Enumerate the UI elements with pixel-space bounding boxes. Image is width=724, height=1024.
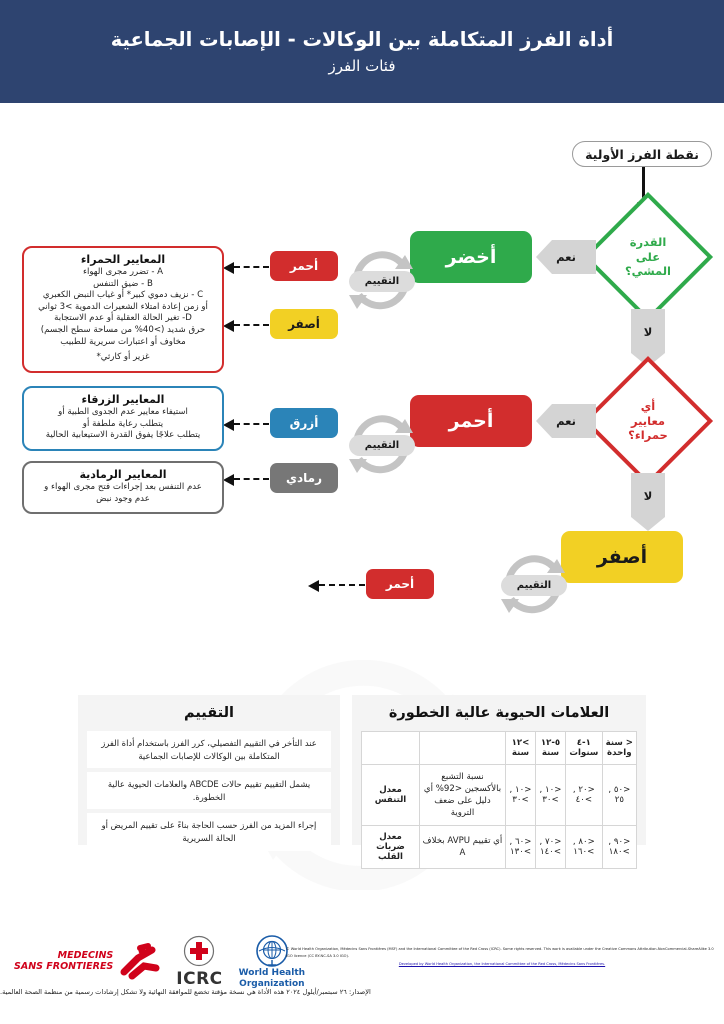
red-criteria-panel: المعايير الحمراء A - تضرر مجرى الهواء B … [22, 246, 224, 373]
blue-criteria-line: استيفاء معايير عدم الجدوى الطبية أو [34, 407, 212, 419]
category-red-box: أحمر [410, 395, 532, 447]
col-header-age-under-1: < سنة واحدة [602, 732, 636, 765]
decision-red-line-3: حمراء؟ [628, 428, 668, 442]
category-red-label: أحمر [449, 410, 494, 432]
assessment-loop-red-pill: التقييم [349, 435, 415, 456]
red-criteria-title: المعايير الحمراء [34, 253, 212, 266]
assessment-loop-red: التقييم [347, 415, 417, 477]
outcome-chip-red-from-green-label: أحمر [290, 259, 318, 273]
msf-logo-line-2: SANS FRONTIERES [14, 962, 113, 973]
red-criteria-line: أو زمن إعادة امتلاء الشعيرات الدموية >3 … [34, 302, 212, 314]
gray-criteria-title: المعايير الرمادية [34, 468, 212, 481]
cell-rr-1-4: <٢٠ , >٤٠ [565, 765, 602, 826]
decision-walking-line-2: على [636, 250, 660, 264]
cell-hr-under-1: <٩٠ , >١٨٠ [602, 826, 636, 869]
row-label-heart-rate: معدل ضربات القلب [362, 826, 420, 869]
assessment-loop-yellow-pill: التقييم [501, 575, 567, 596]
outcome-chip-gray-label: رمادي [286, 471, 322, 485]
decision-red-criteria-label: أي معايير حمراء؟ [602, 375, 694, 467]
page-footer: World Health Organization ICRC [0, 930, 724, 1024]
blue-criteria-panel: المعايير الزرقاء استيفاء معايير عدم الجد… [22, 386, 224, 451]
red-criteria-line: B - ضيق التنفس [34, 279, 212, 291]
dashed-arrow-to-yellow-chip [234, 324, 269, 326]
outcome-chip-red-from-green: أحمر [270, 251, 338, 281]
yes-label-walking: نعم [556, 250, 576, 264]
yes-label-red-criteria: نعم [556, 414, 576, 428]
col-header-age-5-12: ٥-١٢ سنة [536, 732, 566, 765]
red-criteria-line: حرق شديد (>40% من مساحة سطح الجسم) [34, 325, 212, 337]
category-yellow-box: أصفر [561, 531, 683, 583]
dashed-arrow-yellow-to-red [319, 584, 365, 586]
assessment-loop-yellow-label: التقييم [517, 580, 551, 591]
col-header-age-1-4: ١-٤ سنوات [565, 732, 602, 765]
outcome-chip-red-from-yellow: أحمر [366, 569, 434, 599]
vital-signs-table: < سنة واحدة ١-٤ سنوات ٥-١٢ سنة >١٢ سنة <… [361, 731, 637, 869]
outcome-chip-yellow-from-green: أصفر [270, 309, 338, 339]
copyright-text: © World Health Organization, Médecins Sa… [286, 946, 718, 967]
no-label-walking: لا [644, 325, 653, 339]
cell-hr-5-12: <٧٠ , >١٤٠ [536, 826, 566, 869]
red-criteria-line: مخاوف أو اعتبارات سريرية للطبيب [34, 337, 212, 349]
triage-flowchart: نقطة الفرز الأولية القدرة على المشي؟ نعم… [0, 103, 724, 663]
category-yellow-label: أصفر [597, 546, 647, 568]
icrc-logo: ICRC [176, 935, 222, 989]
copyright-link[interactable]: Developed by World Health Organization, … [399, 962, 605, 966]
decision-red-line-2: معايير [631, 414, 665, 428]
category-green-box: أخضر [410, 231, 532, 283]
col-header-rowlabel [362, 732, 420, 765]
start-node-label: نقطة الفرز الأولية [585, 147, 699, 162]
gray-criteria-panel: المعايير الرمادية عدم التنفس بعد إجراءات… [22, 461, 224, 514]
no-chevron-red-criteria: لا [631, 473, 665, 531]
outcome-chip-yellow-from-green-label: أصفر [288, 317, 320, 331]
msf-logo: MEDECINS SANS FRONTIERES [14, 942, 160, 982]
category-green-label: أخضر [446, 246, 497, 268]
col-header-age-over-12: >١٢ سنة [506, 732, 536, 765]
page-header: أداة الفرز المتكاملة بين الوكالات - الإص… [0, 0, 724, 103]
gray-criteria-line: عدم وجود نبض [34, 494, 212, 506]
col-header-note [420, 732, 506, 765]
red-cross-icon [183, 935, 215, 967]
vital-signs-panel-title: العلامات الحيوية عالية الخطورة [352, 695, 646, 731]
table-row: <٥٠ , ٢٥ <٢٠ , >٤٠ <١٠ , >٣٠ <١٠ , >٣٠ ن… [362, 765, 637, 826]
blue-criteria-line: يتطلب علاجًا يفوق القدرة الاستيعابية الح… [34, 430, 212, 442]
start-node-initial-triage-point: نقطة الفرز الأولية [572, 141, 712, 167]
msf-running-figure-icon [118, 942, 160, 982]
decision-walking-line-1: القدرة [630, 235, 667, 249]
assessment-loop-red-label: التقييم [365, 440, 399, 451]
icrc-logo-text: ICRC [176, 969, 222, 989]
yes-chevron-red-criteria: نعم [536, 404, 596, 438]
table-row: <٩٠ , >١٨٠ <٨٠ , >١٦٠ <٧٠ , >١٤٠ <٦٠ , >… [362, 826, 637, 869]
assessment-loop-green-label: التقييم [365, 276, 399, 287]
outcome-chip-blue: أزرق [270, 408, 338, 438]
copyright-body: © World Health Organization, Médecins Sa… [286, 947, 714, 958]
assessment-row: عند التأخر في التقييم التفصيلي، كرر الفر… [87, 731, 331, 768]
outcome-chip-red-from-yellow-label: أحمر [386, 577, 414, 591]
dashed-arrow-to-red-chip [234, 266, 269, 268]
who-logo-line-1: World Health [239, 969, 305, 979]
who-emblem-icon [255, 934, 289, 968]
bottom-tables: التقييم عند التأخر في التقييم التفصيلي، … [0, 695, 724, 865]
assessment-row: إجراء المزيد من الفرز حسب الحاجة بناءً ع… [87, 813, 331, 850]
page-subtitle: فئات الفرز [329, 57, 396, 75]
partner-logos: World Health Organization ICRC [14, 934, 305, 990]
blue-criteria-line: يتطلب رعاية ملطفة أو [34, 419, 212, 431]
blue-criteria-title: المعايير الزرقاء [34, 393, 212, 406]
assessment-panel: التقييم عند التأخر في التقييم التفصيلي، … [78, 695, 340, 845]
decision-red-line-1: أي [641, 399, 655, 413]
assessment-loop-yellow: التقييم [499, 555, 569, 617]
assessment-row: يشمل التقييم تقييم حالات ABCDE والعلامات… [87, 772, 331, 809]
decision-walking-line-3: المشي؟ [625, 264, 671, 278]
red-criteria-line: D- تغير الحالة العقلية أو عدم الاستجابة [34, 313, 212, 325]
assessment-panel-title: التقييم [78, 695, 340, 731]
page-title: أداة الفرز المتكاملة بين الوكالات - الإص… [111, 28, 614, 51]
outcome-chip-gray: رمادي [270, 463, 338, 493]
infographic-page: أداة الفرز المتكاملة بين الوكالات - الإص… [0, 0, 724, 1024]
cell-rr-under-1: <٥٠ , ٢٥ [602, 765, 636, 826]
row-label-respiratory-rate: معدل التنفس [362, 765, 420, 826]
dashed-arrow-to-gray-chip [234, 478, 269, 480]
no-label-red-criteria: لا [644, 489, 653, 503]
red-criteria-line: A - تضرر مجرى الهواء [34, 267, 212, 279]
gray-criteria-line: عدم التنفس بعد إجراءات فتح مجرى الهواء و [34, 482, 212, 494]
cell-rr-5-12: <١٠ , >٣٠ [536, 765, 566, 826]
outcome-chip-blue-label: أزرق [290, 416, 319, 430]
assessment-loop-green: التقييم [347, 251, 417, 313]
dashed-arrow-to-blue-chip [234, 423, 269, 425]
cell-hr-over-12: <٦٠ , >١٣٠ [506, 826, 536, 869]
table-header-row: < سنة واحدة ١-٤ سنوات ٥-١٢ سنة >١٢ سنة [362, 732, 637, 765]
cell-note-avpu: أي تقييم AVPU بخلاف A [420, 826, 506, 869]
assessment-loop-green-pill: التقييم [349, 271, 415, 292]
cell-hr-1-4: <٨٠ , >١٦٠ [565, 826, 602, 869]
red-criteria-footnote: غزير أو كارثي* [34, 352, 212, 364]
cell-rr-over-12: <١٠ , >٣٠ [506, 765, 536, 826]
version-disclaimer: الإصدار: ٢٦ سبتمبر/أيلول ٢٠٢٤ هذه الأداة… [0, 988, 712, 996]
yes-chevron-walking: نعم [536, 240, 596, 274]
cell-note-oxygen: نسبة التشبع بالأكسجين <92% أي دليل على ض… [420, 765, 506, 826]
decision-walking-label: القدرة على المشي؟ [602, 211, 694, 303]
red-criteria-line: C - نزيف دموي كبير* أو غياب النبض الكعبر… [34, 290, 212, 302]
vital-signs-panel: العلامات الحيوية عالية الخطورة < سنة واح… [352, 695, 646, 845]
